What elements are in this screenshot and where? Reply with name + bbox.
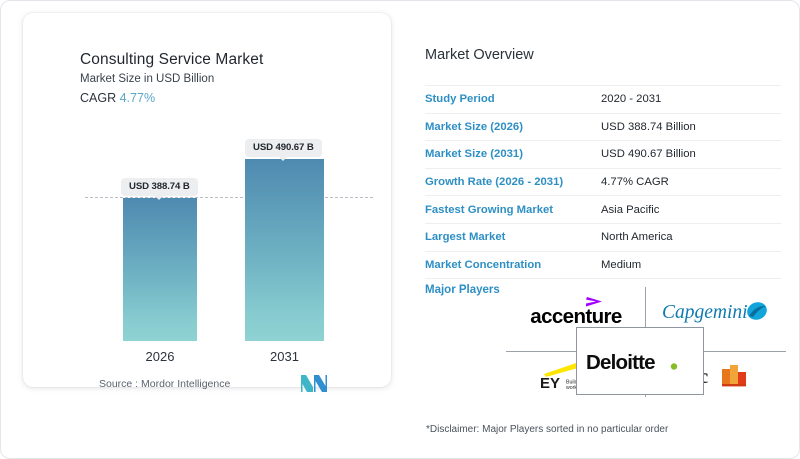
screenshot-frame: Consulting Service Market Market Size in…: [0, 0, 800, 459]
bar-2031-fill: [245, 159, 324, 341]
table-row: Study Period 2020 - 2031: [425, 85, 781, 114]
table-row: Growth Rate (2026 - 2031) 4.77% CAGR: [425, 169, 781, 197]
row-key: Market Size (2026): [425, 121, 601, 133]
row-value: Medium: [601, 259, 641, 271]
x-axis-label-2031: 2031: [245, 349, 324, 364]
svg-text:Capgemini: Capgemini: [662, 302, 748, 323]
capgemini-logo-icon: Capgemini: [660, 296, 772, 326]
accenture-logo-icon: accenture: [522, 295, 630, 327]
bar-2026-fill: [123, 198, 197, 341]
x-axis-label-2026: 2026: [123, 349, 197, 364]
table-row: Market Concentration Medium: [425, 252, 781, 280]
svg-text:EY: EY: [540, 375, 560, 391]
row-key: Largest Market: [425, 231, 601, 243]
chart-card: Consulting Service Market Market Size in…: [23, 13, 391, 387]
row-key: Market Concentration: [425, 259, 601, 271]
market-overview-table: Study Period 2020 - 2031 Market Size (20…: [425, 85, 781, 279]
svg-text:accenture: accenture: [530, 305, 622, 327]
major-players-label: Major Players: [425, 284, 500, 296]
market-overview-title: Market Overview: [425, 47, 534, 63]
major-players-logo-grid: accenture Capgemini EY Building a better…: [506, 287, 786, 397]
mordor-intelligence-logo-icon: [301, 375, 327, 397]
source-text: Source : Mordor Intelligence: [99, 378, 230, 390]
row-value: USD 388.74 Billion: [601, 121, 696, 133]
disclaimer-text: *Disclaimer: Major Players sorted in no …: [426, 424, 668, 435]
bar-chart-plot: USD 388.74 B USD 490.67 B 2026 2031: [23, 13, 391, 387]
row-value: North America: [601, 231, 673, 243]
row-key: Market Size (2031): [425, 148, 601, 160]
bar-2026: [123, 198, 197, 341]
table-row: Largest Market North America: [425, 224, 781, 252]
deloitte-logo-icon: Deloitte: [584, 348, 696, 374]
table-row: Fastest Growing Market Asia Pacific: [425, 196, 781, 224]
player-deloitte: Deloitte: [576, 327, 704, 395]
row-value: 4.77% CAGR: [601, 176, 669, 188]
row-value: 2020 - 2031: [601, 93, 661, 105]
row-key: Growth Rate (2026 - 2031): [425, 176, 601, 188]
row-value: Asia Pacific: [601, 204, 659, 216]
table-row: Market Size (2031) USD 490.67 Billion: [425, 141, 781, 169]
row-key: Fastest Growing Market: [425, 204, 601, 216]
data-label-2026: USD 388.74 B: [121, 178, 198, 196]
svg-text:Deloitte: Deloitte: [586, 351, 655, 374]
row-value: USD 490.67 Billion: [601, 148, 696, 160]
row-key: Study Period: [425, 93, 601, 105]
table-row: Market Size (2026) USD 388.74 Billion: [425, 114, 781, 142]
data-label-2031: USD 490.67 B: [245, 139, 322, 157]
bar-2031: [245, 159, 324, 341]
